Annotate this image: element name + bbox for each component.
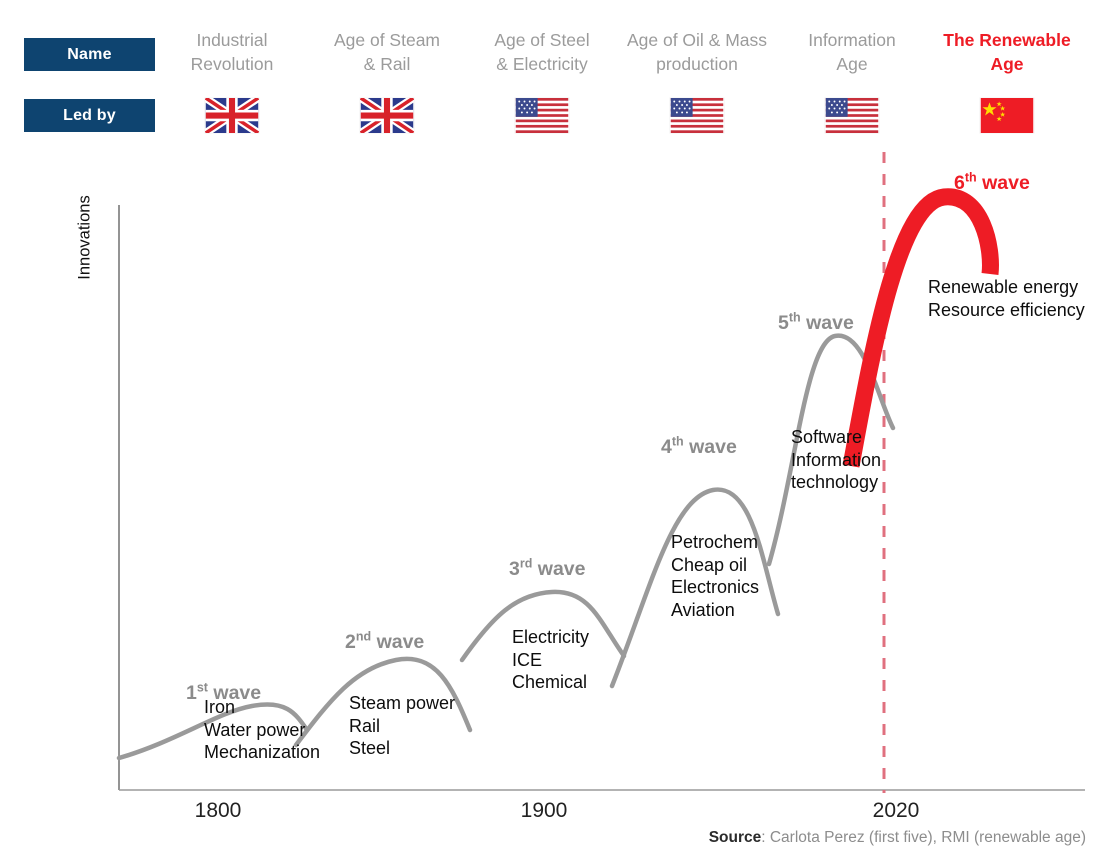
wave-innovations-5: SoftwareInformationtechnology xyxy=(791,426,881,494)
wave-label-5-sup: th xyxy=(789,311,801,325)
innovation-item: Electricity xyxy=(512,627,589,647)
innovation-item: ICE xyxy=(512,650,542,670)
innovation-item: Cheap oil xyxy=(671,555,747,575)
wave-label-6: 6th wave xyxy=(954,172,1030,195)
wave-label-1-sup: st xyxy=(197,681,208,695)
source-text: : Carlota Perez (first five), RMI (renew… xyxy=(761,829,1086,846)
innovation-item: technology xyxy=(791,472,878,492)
innovation-item: Petrochem xyxy=(671,532,758,552)
wave-innovations-2: Steam powerRailSteel xyxy=(349,692,455,760)
kondratiev-waves-chart xyxy=(0,0,1120,864)
innovation-item: Chemical xyxy=(512,672,587,692)
wave-label-3-word: wave xyxy=(538,558,586,580)
wave-label-3-sup: rd xyxy=(520,557,533,571)
wave-label-1-num: 1 xyxy=(186,682,197,704)
x-tick-1900: 1900 xyxy=(484,799,604,823)
innovation-item: Rail xyxy=(349,716,380,736)
wave-label-4-word: wave xyxy=(689,436,737,458)
wave-innovations-1: IronWater powerMechanization xyxy=(204,696,320,764)
innovation-item: Software xyxy=(791,427,862,447)
wave-innovations-4: PetrochemCheap oilElectronicsAviation xyxy=(671,531,759,621)
wave-label-4-num: 4 xyxy=(661,436,672,458)
wave-label-5: 5th wave xyxy=(778,312,854,335)
innovation-item: Iron xyxy=(204,697,235,717)
innovation-item: Electronics xyxy=(671,577,759,597)
innovation-item: Resource efficiency xyxy=(928,300,1085,320)
wave-innovations-3: ElectricityICEChemical xyxy=(512,626,589,694)
wave-label-3: 3rd wave xyxy=(509,558,585,581)
innovation-item: Mechanization xyxy=(204,742,320,762)
innovation-item: Information xyxy=(791,450,881,470)
x-tick-2020: 2020 xyxy=(836,799,956,823)
wave-label-4: 4th wave xyxy=(661,436,737,459)
wave-label-6-num: 6 xyxy=(954,172,965,194)
wave-innovations-6: Renewable energyResource efficiency xyxy=(928,276,1085,321)
source-prefix: Source xyxy=(709,829,762,846)
wave-label-6-word: wave xyxy=(982,172,1030,194)
wave-label-5-word: wave xyxy=(806,312,854,334)
wave-label-5-num: 5 xyxy=(778,312,789,334)
innovation-item: Renewable energy xyxy=(928,277,1078,297)
x-tick-1800: 1800 xyxy=(158,799,278,823)
wave-label-2-num: 2 xyxy=(345,631,356,653)
wave-label-2-sup: nd xyxy=(356,630,371,644)
source-note: Source: Carlota Perez (first five), RMI … xyxy=(0,829,1086,847)
wave-label-2: 2nd wave xyxy=(345,631,424,654)
wave-label-6-sup: th xyxy=(965,171,977,185)
innovation-item: Steam power xyxy=(349,693,455,713)
innovation-item: Aviation xyxy=(671,600,735,620)
innovation-item: Steel xyxy=(349,738,390,758)
innovation-item: Water power xyxy=(204,720,305,740)
infographic-root: Name Led by Industrial Revolution Age of… xyxy=(0,0,1120,864)
wave-label-4-sup: th xyxy=(672,435,684,449)
y-axis-label: Innovations xyxy=(76,148,95,328)
wave-label-2-word: wave xyxy=(377,631,425,653)
wave-label-3-num: 3 xyxy=(509,558,520,580)
